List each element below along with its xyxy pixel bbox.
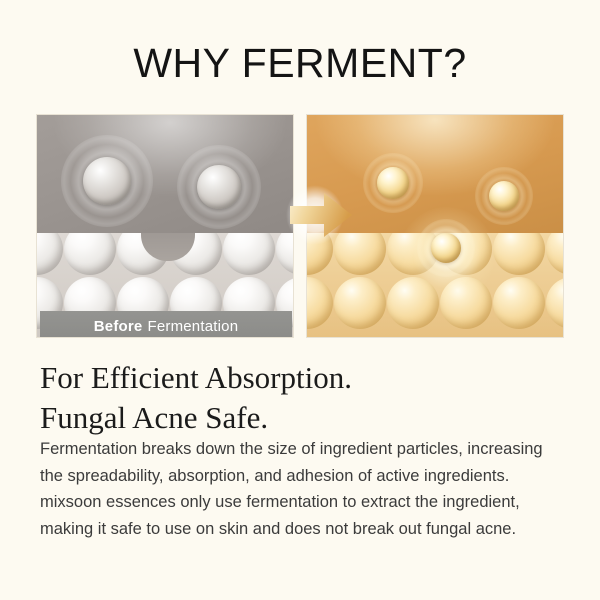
headline-line-2: Fungal Acne Safe. [40,398,560,438]
arrow-right-icon [290,193,352,237]
page-title: WHY FERMENT? [0,42,600,85]
large-particle-icon [177,145,261,229]
skin-cell [493,233,545,275]
skin-cell [307,277,333,329]
before-caption-rest: Fermentation [147,318,238,335]
skin-cell [493,277,545,329]
particle-core [489,181,519,211]
skin-cell [546,277,563,329]
particle-core [377,167,408,198]
body-paragraph-1: Fermentation breaks down the size of ing… [40,436,570,489]
penetrating-particle-icon [417,219,475,277]
headline: For Efficient Absorption. Fungal Acne Sa… [40,358,560,437]
small-particle-icon [475,167,533,225]
transition-arrow [282,184,360,246]
before-caption-bold: Before [94,318,143,335]
particle-core [431,233,461,263]
body-paragraph-2: mixsoon essences only use fermentation t… [40,489,570,542]
particle-core [197,165,241,209]
before-fermentation-panel: Before Fermentation [36,114,294,338]
particle-core [83,157,131,205]
headline-line-1: For Efficient Absorption. [40,358,560,398]
skin-cell [223,233,275,275]
infographic-page: WHY FERMENT? [0,0,600,600]
before-caption-bar: Before Fermentation [40,311,292,338]
skin-cell [37,233,63,275]
skin-cell [546,233,563,275]
before-after-comparison: Before Fermentation [36,114,564,338]
skin-cell [334,277,386,329]
small-particle-icon [363,153,423,213]
large-particle-icon [61,135,153,227]
skin-cell [64,233,116,275]
before-illustration [37,115,293,337]
body-copy: Fermentation breaks down the size of ing… [40,436,570,543]
